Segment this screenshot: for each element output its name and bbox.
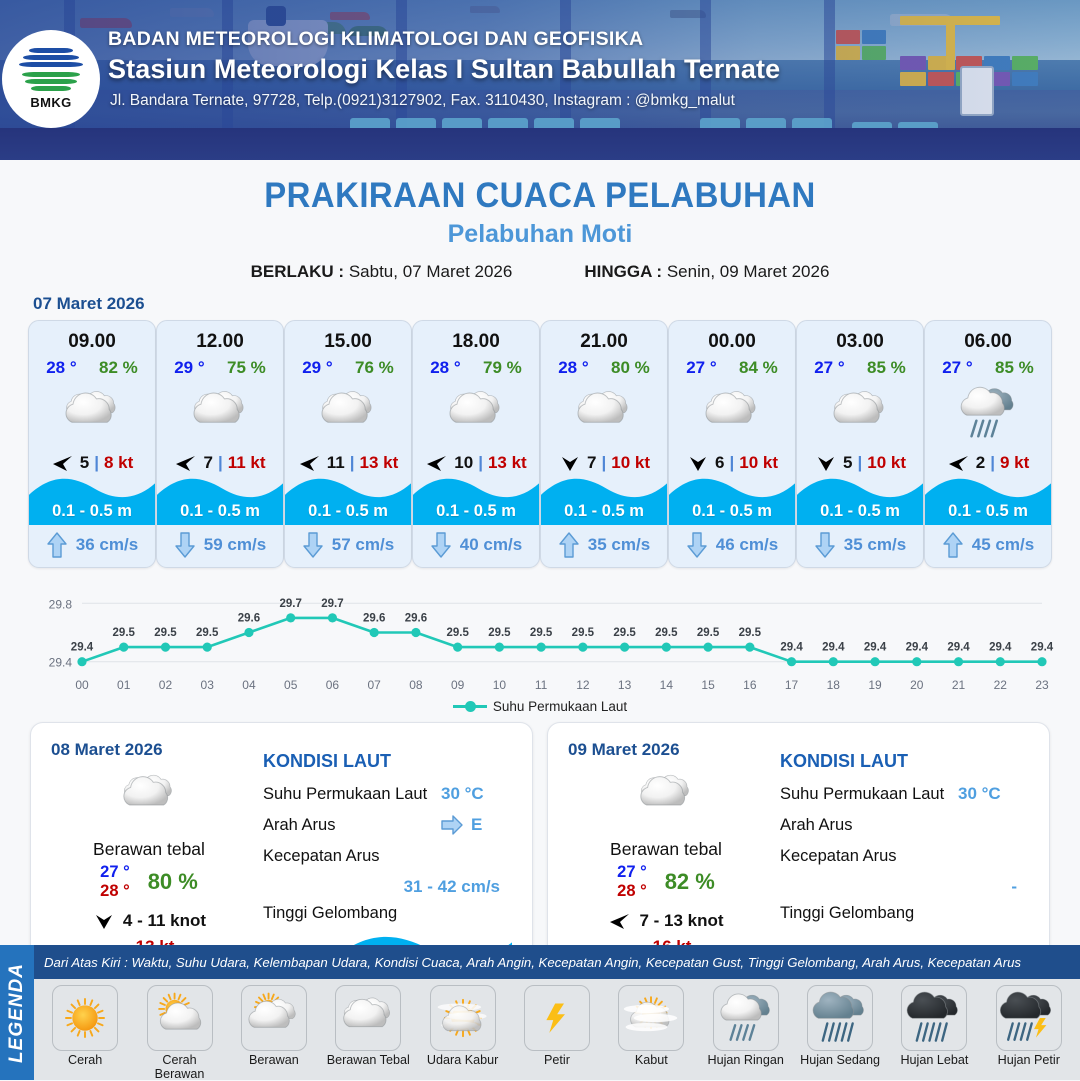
chart-point	[161, 643, 170, 652]
legend-item: Berawan	[231, 985, 317, 1067]
chart-point	[411, 628, 420, 637]
card-wind-speed: 7	[587, 453, 596, 473]
berawan-tebal-icon	[573, 382, 635, 444]
chart-point-label: 29.4	[947, 642, 970, 654]
cloud-sun-icon	[245, 989, 303, 1047]
sea-conditions-block: KONDISI LAUTSuhu Permukaan Laut30 °CArah…	[263, 751, 518, 931]
legend-icon-box	[807, 985, 873, 1051]
title-section: PRAKIRAAN CUACA PELABUHAN Pelabuhan Moti…	[0, 176, 1080, 282]
chart-point-label: 29.5	[113, 627, 136, 639]
bmkg-logo: BMKG	[2, 30, 100, 128]
card-gust: 8 kt	[104, 453, 133, 473]
card-humidity: 82 %	[99, 358, 138, 378]
legend-items-strip: CerahCerah BerawanBerawanBerawan TebalUd…	[34, 979, 1080, 1080]
chart-point	[203, 643, 212, 652]
chart-point-label: 29.5	[739, 627, 762, 639]
chart-xtick: 14	[660, 678, 674, 692]
legend-item: Cerah	[42, 985, 128, 1067]
card-wind-speed: 6	[715, 453, 724, 473]
chart-point-label: 29.7	[321, 598, 343, 610]
card-wave-height: 0.1 - 0.5 m	[413, 502, 539, 521]
current-direction-up-icon	[558, 532, 580, 558]
berawan-tebal-icon	[701, 382, 763, 444]
forecast-card[interactable]: 03.0027 °85 %5|10 kt0.1 - 0.5 m35 cm/s	[796, 320, 924, 568]
berawan-tebal-icon	[445, 382, 507, 444]
card-wind-row: 5|8 kt	[29, 451, 155, 475]
wave-height-label: Tinggi Gelombang	[780, 904, 958, 923]
berawan-tebal-icon	[119, 766, 179, 826]
current-direction-up-icon	[942, 532, 964, 558]
daily-wind-range: 7 - 13 knot	[639, 911, 723, 931]
chart-xtick: 12	[576, 678, 590, 692]
daily-condition: Berawan tebal	[566, 839, 766, 860]
card-wind-speed: 2	[976, 453, 985, 473]
card-wind-separator: |	[478, 453, 483, 473]
page-header: BMKG BADAN METEOROLOGI KLIMATOLOGI DAN G…	[0, 0, 1080, 160]
card-temperature: 28 °	[46, 358, 76, 378]
chart-point	[703, 643, 712, 652]
daily-date: 09 Maret 2026	[568, 740, 680, 760]
current-direction-down-icon	[686, 532, 708, 558]
wind-direction-nw-icon	[608, 909, 632, 933]
chart-point-label: 29.4	[780, 642, 803, 654]
chart-point	[578, 643, 587, 652]
daily-wind-range: 4 - 11 knot	[123, 911, 206, 931]
card-temp-humidity: 28 °82 %	[29, 358, 155, 378]
card-wind-row: 5|10 kt	[797, 451, 923, 475]
chart-point	[787, 657, 796, 666]
lightning-icon	[528, 989, 586, 1047]
sst-chart-svg: 29.429.829.40029.50129.50229.50329.60429…	[20, 582, 1060, 697]
chart-point-label: 29.4	[864, 642, 887, 654]
daily-condition: Berawan tebal	[49, 839, 249, 860]
current-direction-down-icon	[430, 532, 452, 558]
card-current-row: 59 cm/s	[157, 532, 283, 558]
sst-label: Suhu Permukaan Laut	[780, 785, 958, 804]
card-humidity: 75 %	[227, 358, 266, 378]
wind-direction-nw-icon	[947, 451, 971, 475]
card-current-speed: 57 cm/s	[332, 535, 394, 555]
card-temp-humidity: 29 °75 %	[157, 358, 283, 378]
header-text-block: BADAN METEOROLOGI KLIMATOLOGI DAN GEOFIS…	[108, 28, 968, 110]
legend-side-tab: LEGENDA	[0, 945, 34, 1080]
card-temp-humidity: 27 °84 %	[669, 358, 795, 378]
thunderstorm-icon	[1000, 989, 1058, 1047]
daily-temp-column: 27 °28 °	[617, 863, 647, 901]
chart-point-label: 29.4	[1031, 642, 1054, 654]
current-speed-value-row: -	[780, 874, 1035, 900]
current-speed-value: -	[1011, 877, 1017, 897]
wave-height-row: Tinggi Gelombang	[263, 900, 518, 926]
card-humidity: 79 %	[483, 358, 522, 378]
wave-height-label: Tinggi Gelombang	[263, 904, 441, 923]
card-time: 00.00	[669, 331, 795, 353]
card-current-row: 45 cm/s	[925, 532, 1051, 558]
card-wave-height: 0.1 - 0.5 m	[797, 502, 923, 521]
wind-direction-down-icon	[814, 451, 838, 475]
card-current-speed: 45 cm/s	[972, 535, 1034, 555]
card-time: 15.00	[285, 331, 411, 353]
chart-point	[662, 643, 671, 652]
card-weather-icon	[29, 384, 155, 442]
legend-item-label: Petir	[514, 1053, 600, 1067]
chart-point-label: 29.6	[363, 613, 385, 625]
valid-from-value: Sabtu, 07 Maret 2026	[349, 262, 513, 281]
legend-icon-box	[524, 985, 590, 1051]
chart-xtick: 16	[743, 678, 757, 692]
legend-item: Hujan Lebat	[891, 985, 977, 1067]
card-wind-speed: 7	[203, 453, 212, 473]
chart-point	[119, 643, 128, 652]
chart-xtick: 03	[201, 678, 215, 692]
card-wind-row: 10|13 kt	[413, 451, 539, 475]
chart-legend-swatch	[453, 705, 487, 708]
chart-xtick: 10	[493, 678, 507, 692]
chart-xtick: 21	[952, 678, 966, 692]
chart-xtick: 19	[868, 678, 882, 692]
daily-temp-min: 27 °	[617, 863, 647, 882]
page-title: PRAKIRAAN CUACA PELABUHAN	[32, 176, 1047, 216]
chart-point	[912, 657, 921, 666]
legend-item: Hujan Ringan	[703, 985, 789, 1067]
chart-xtick: 17	[785, 678, 799, 692]
daily-temp-humidity: 27 °28 °80 %	[49, 863, 249, 901]
chart-point-label: 29.4	[989, 642, 1012, 654]
card-humidity: 80 %	[611, 358, 650, 378]
card-wind-row: 7|10 kt	[541, 451, 667, 475]
chart-point	[870, 657, 879, 666]
chart-point-label: 29.5	[530, 627, 553, 639]
card-weather-icon	[541, 384, 667, 442]
card-wind-separator: |	[990, 453, 995, 473]
current-speed-value: 31 - 42 cm/s	[404, 877, 500, 897]
wave-height-row: Tinggi Gelombang	[780, 900, 1035, 926]
chart-xtick: 04	[242, 678, 256, 692]
chart-point	[495, 643, 504, 652]
daily-date: 08 Maret 2026	[51, 740, 163, 760]
chart-line	[82, 618, 1042, 662]
legend-item-label: Berawan	[231, 1053, 317, 1067]
card-wind-speed: 11	[327, 453, 345, 473]
legend-item-label: Berawan Tebal	[325, 1053, 411, 1067]
card-humidity: 84 %	[739, 358, 778, 378]
card-weather-icon	[285, 384, 411, 442]
card-wave-height: 0.1 - 0.5 m	[29, 502, 155, 521]
chart-point-label: 29.5	[488, 627, 511, 639]
wind-direction-down-icon	[686, 451, 710, 475]
hujan-ringan-icon	[957, 382, 1019, 444]
card-current-speed: 40 cm/s	[460, 535, 522, 555]
heavy-cloud-icon	[339, 989, 397, 1047]
card-wind-row: 2|9 kt	[925, 451, 1051, 475]
chart-xtick: 05	[284, 678, 298, 692]
wind-direction-nw-icon	[298, 451, 322, 475]
chart-xtick: 06	[326, 678, 340, 692]
legend-item-label: Hujan Ringan	[703, 1053, 789, 1067]
sun-icon	[56, 989, 114, 1047]
card-gust: 13 kt	[360, 453, 399, 473]
forecast-card[interactable]: 21.0028 °80 %7|10 kt0.1 - 0.5 m35 cm/s	[540, 320, 668, 568]
agency-name: BADAN METEOROLOGI KLIMATOLOGI DAN GEOFIS…	[108, 28, 968, 51]
legend-band: LEGENDA Dari Atas Kiri : Waktu, Suhu Uda…	[0, 945, 1080, 1080]
card-wind-row: 6|10 kt	[669, 451, 795, 475]
legend-icon-box	[618, 985, 684, 1051]
current-speed-value-row: 31 - 42 cm/s	[263, 874, 518, 900]
sst-value: 30 °C	[441, 784, 484, 804]
card-current-speed: 35 cm/s	[844, 535, 906, 555]
card-current-row: 35 cm/s	[797, 532, 923, 558]
card-wind-speed: 10	[454, 453, 473, 473]
card-temp-humidity: 27 °85 %	[925, 358, 1051, 378]
legend-icon-box	[901, 985, 967, 1051]
card-wave-height: 0.1 - 0.5 m	[925, 502, 1051, 521]
forecast-card[interactable]: 00.0027 °84 %6|10 kt0.1 - 0.5 m46 cm/s	[668, 320, 796, 568]
forecast-card[interactable]: 15.0029 °76 %11|13 kt0.1 - 0.5 m57 cm/s	[284, 320, 412, 568]
daily-forecast-row: 08 Maret 2026Berawan tebal27 °28 °80 %4 …	[0, 722, 1080, 967]
current-speed-label: Kecepatan Arus	[263, 847, 441, 866]
daily-weather-icon	[49, 767, 249, 825]
card-current-row: 36 cm/s	[29, 532, 155, 558]
chart-xtick: 11	[535, 678, 548, 692]
chart-point	[453, 643, 462, 652]
header-floor	[0, 128, 1080, 160]
chart-xtick: 18	[827, 678, 841, 692]
forecast-card[interactable]: 12.0029 °75 %7|11 kt0.1 - 0.5 m59 cm/s	[156, 320, 284, 568]
card-time: 03.00	[797, 331, 923, 353]
chart-point	[537, 643, 546, 652]
card-weather-icon	[669, 384, 795, 442]
heavy-rain-icon	[905, 989, 963, 1047]
chart-point	[286, 613, 295, 622]
current-direction-label: Arah Arus	[263, 816, 441, 835]
sst-chart: 29.429.829.40029.50129.50229.50329.60429…	[20, 582, 1060, 697]
current-speed-label: Kecepatan Arus	[780, 847, 958, 866]
chart-point-label: 29.5	[697, 627, 720, 639]
wind-direction-down-icon	[92, 909, 116, 933]
card-wind-row: 11|13 kt	[285, 451, 411, 475]
daily-temp-humidity: 27 °28 °82 %	[566, 863, 766, 901]
card-gust: 10 kt	[867, 453, 906, 473]
hourly-forecast-row: 09.0028 °82 %5|8 kt0.1 - 0.5 m36 cm/s12.…	[0, 320, 1080, 568]
chart-point	[620, 643, 629, 652]
card-gust: 11 kt	[228, 453, 266, 473]
legend-item-label: Cerah Berawan	[137, 1053, 223, 1081]
legend-item: Udara Kabur	[420, 985, 506, 1067]
daily-forecast-card[interactable]: 08 Maret 2026Berawan tebal27 °28 °80 %4 …	[30, 722, 533, 967]
card-temperature: 28 °	[558, 358, 588, 378]
bmkg-logo-text: BMKG	[30, 95, 71, 110]
current-direction-down-icon	[174, 532, 196, 558]
card-wind-separator: |	[601, 453, 606, 473]
forecast-card[interactable]: 09.0028 °82 %5|8 kt0.1 - 0.5 m36 cm/s	[28, 320, 156, 568]
daily-temp-min: 27 °	[100, 863, 130, 882]
chart-xtick: 01	[117, 678, 131, 692]
sea-conditions-block: KONDISI LAUTSuhu Permukaan Laut30 °CArah…	[780, 751, 1035, 931]
legend-item-label: Cerah	[42, 1053, 128, 1067]
berawan-tebal-icon	[61, 382, 123, 444]
card-weather-icon	[925, 384, 1051, 442]
chart-point	[1037, 657, 1046, 666]
daily-wind-row: 7 - 13 knot	[566, 909, 766, 933]
card-temp-humidity: 28 °80 %	[541, 358, 667, 378]
contact-info: Jl. Bandara Ternate, 97728, Telp.(0921)3…	[110, 92, 968, 110]
card-temperature: 28 °	[430, 358, 460, 378]
daily-left-block: Berawan tebal27 °28 °80 %4 - 11 knot13 k…	[49, 767, 249, 957]
card-humidity: 85 %	[995, 358, 1034, 378]
legend-icon-box	[996, 985, 1062, 1051]
card-gust: 10 kt	[611, 453, 650, 473]
chart-xtick: 22	[994, 678, 1008, 692]
card-current-row: 46 cm/s	[669, 532, 795, 558]
forecast-card[interactable]: 06.0027 °85 %2|9 kt0.1 - 0.5 m45 cm/s	[924, 320, 1052, 568]
current-direction-row: Arah ArusE	[263, 812, 518, 838]
card-temp-humidity: 28 °79 %	[413, 358, 539, 378]
daily-humidity: 82 %	[665, 869, 715, 895]
card-wind-speed: 5	[80, 453, 89, 473]
chart-point-label: 29.5	[572, 627, 595, 639]
port-name: Pelabuhan Moti	[0, 220, 1080, 249]
wind-direction-down-icon	[558, 451, 582, 475]
legend-item-label: Udara Kabur	[420, 1053, 506, 1067]
chart-xtick: 20	[910, 678, 924, 692]
current-speed-row: Kecepatan Arus	[780, 843, 1035, 869]
card-humidity: 85 %	[867, 358, 906, 378]
chart-point-label: 29.5	[613, 627, 636, 639]
card-temperature: 27 °	[814, 358, 844, 378]
haze-icon	[434, 989, 492, 1047]
card-current-row: 40 cm/s	[413, 532, 539, 558]
card-time: 09.00	[29, 331, 155, 353]
card-current-speed: 59 cm/s	[204, 535, 266, 555]
daily-forecast-card[interactable]: 09 Maret 2026Berawan tebal27 °28 °82 %7 …	[547, 722, 1050, 967]
card-wind-separator: |	[729, 453, 734, 473]
daily-weather-icon	[566, 767, 766, 825]
chart-point-label: 29.5	[154, 627, 177, 639]
validity-row: BERLAKU : Sabtu, 07 Maret 2026 HINGGA : …	[0, 262, 1080, 282]
card-temperature: 29 °	[302, 358, 332, 378]
card-wind-separator: |	[350, 453, 355, 473]
card-wind-separator: |	[94, 453, 99, 473]
current-direction-east-icon	[441, 812, 463, 838]
current-direction-label: Arah Arus	[780, 816, 958, 835]
berawan-tebal-icon	[636, 766, 696, 826]
sea-conditions-title: KONDISI LAUT	[780, 751, 1035, 772]
daily-left-block: Berawan tebal27 °28 °82 %7 - 13 knot16 k…	[566, 767, 766, 957]
card-gust: 10 kt	[739, 453, 778, 473]
card-current-speed: 46 cm/s	[716, 535, 778, 555]
chart-point-label: 29.5	[655, 627, 678, 639]
daily-temp-max: 28 °	[617, 882, 647, 901]
chart-point	[328, 613, 337, 622]
current-direction-value-group: E	[441, 812, 482, 838]
chart-point	[829, 657, 838, 666]
current-direction-row: Arah Arus	[780, 812, 1035, 838]
card-wind-separator: |	[218, 453, 223, 473]
current-direction-up-icon	[46, 532, 68, 558]
card-time: 21.00	[541, 331, 667, 353]
current-direction-down-icon	[814, 532, 836, 558]
wind-direction-nw-icon	[51, 451, 75, 475]
legend-icon-box	[713, 985, 779, 1051]
chart-xtick: 08	[409, 678, 423, 692]
legend-icon-box	[147, 985, 213, 1051]
legend-item: Hujan Petir	[986, 985, 1072, 1067]
card-wave-height: 0.1 - 0.5 m	[285, 502, 411, 521]
wind-direction-nw-icon	[174, 451, 198, 475]
card-temp-humidity: 27 °85 %	[797, 358, 923, 378]
chart-point-label: 29.5	[446, 627, 469, 639]
sst-value: 30 °C	[958, 784, 1001, 804]
legend-icon-box	[430, 985, 496, 1051]
legend-icon-box	[335, 985, 401, 1051]
chart-point-label: 29.6	[238, 613, 260, 625]
legend-item: Petir	[514, 985, 600, 1067]
card-wave-height: 0.1 - 0.5 m	[669, 502, 795, 521]
chart-xtick: 13	[618, 678, 632, 692]
chart-point-label: 29.7	[280, 598, 302, 610]
card-wind-speed: 5	[843, 453, 852, 473]
chart-point	[244, 628, 253, 637]
valid-to-value: Senin, 09 Maret 2026	[667, 262, 830, 281]
valid-from-label: BERLAKU :	[251, 262, 345, 281]
card-weather-icon	[157, 384, 283, 442]
current-speed-row: Kecepatan Arus	[263, 843, 518, 869]
sst-label: Suhu Permukaan Laut	[263, 785, 441, 804]
card-wind-row: 7|11 kt	[157, 451, 283, 475]
card-temperature: 27 °	[942, 358, 972, 378]
card-current-speed: 36 cm/s	[76, 535, 138, 555]
chart-point	[745, 643, 754, 652]
legend-side-text: LEGENDA	[6, 963, 28, 1063]
sst-row: Suhu Permukaan Laut30 °C	[263, 781, 518, 807]
chart-xtick: 15	[701, 678, 715, 692]
legend-item-label: Hujan Petir	[986, 1053, 1072, 1067]
card-temp-humidity: 29 °76 %	[285, 358, 411, 378]
fog-icon	[622, 989, 680, 1047]
forecast-date-label: 07 Maret 2026	[33, 294, 1080, 314]
daily-wind-row: 4 - 11 knot	[49, 909, 249, 933]
chart-xtick: 09	[451, 678, 465, 692]
card-wave-height: 0.1 - 0.5 m	[541, 502, 667, 521]
chart-legend-label: Suhu Permukaan Laut	[493, 699, 627, 714]
card-gust: 9 kt	[1000, 453, 1029, 473]
legend-item-label: Hujan Lebat	[891, 1053, 977, 1067]
card-temperature: 27 °	[686, 358, 716, 378]
legend-icon-box	[52, 985, 118, 1051]
chart-point	[954, 657, 963, 666]
valid-to: HINGGA : Senin, 09 Maret 2026	[584, 262, 829, 282]
current-direction-down-icon	[302, 532, 324, 558]
bmkg-logo-mark	[19, 48, 83, 94]
berawan-tebal-icon	[189, 382, 251, 444]
valid-from: BERLAKU : Sabtu, 07 Maret 2026	[251, 262, 513, 282]
station-name: Stasiun Meteorologi Kelas I Sultan Babul…	[108, 54, 968, 85]
card-humidity: 76 %	[355, 358, 394, 378]
card-time: 18.00	[413, 331, 539, 353]
legend-item: Berawan Tebal	[325, 985, 411, 1067]
card-wave-height: 0.1 - 0.5 m	[157, 502, 283, 521]
legend-icon-box	[241, 985, 307, 1051]
berawan-tebal-icon	[317, 382, 379, 444]
card-gust: 13 kt	[488, 453, 527, 473]
chart-ytick: 29.4	[49, 656, 73, 670]
card-weather-icon	[413, 384, 539, 442]
card-weather-icon	[797, 384, 923, 442]
card-time: 06.00	[925, 331, 1051, 353]
sst-row: Suhu Permukaan Laut30 °C	[780, 781, 1035, 807]
card-current-row: 57 cm/s	[285, 532, 411, 558]
forecast-card[interactable]: 18.0028 °79 %10|13 kt0.1 - 0.5 m40 cm/s	[412, 320, 540, 568]
